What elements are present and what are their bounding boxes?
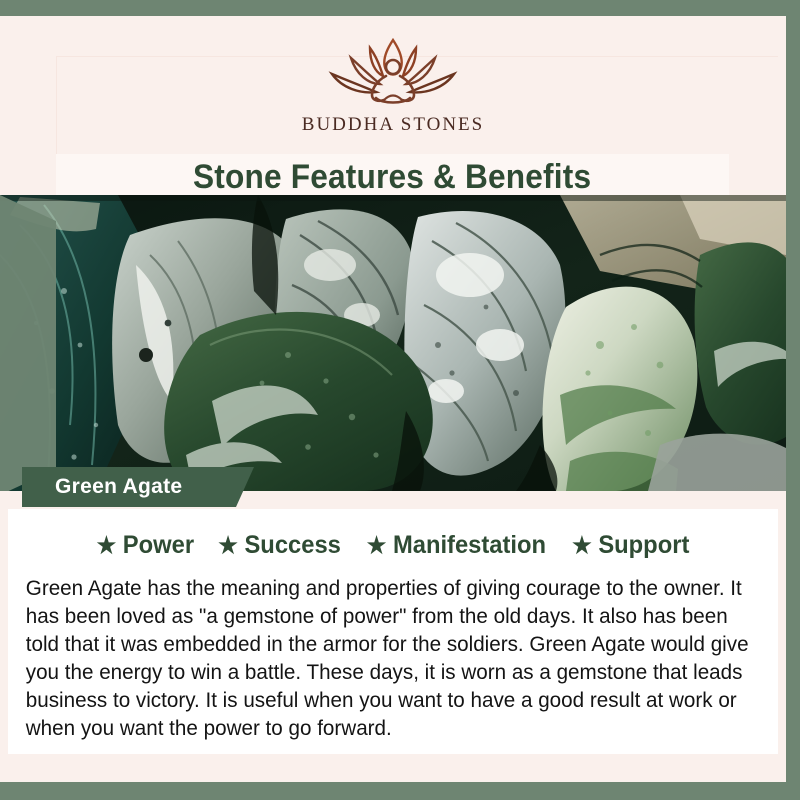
star-icon: ★ (366, 534, 386, 557)
content-panel: ★ Power ★ Success ★ Manifestation ★ Supp… (8, 509, 778, 754)
bottom-decorative-band (0, 782, 800, 800)
feature-label: Manifestation (393, 531, 546, 560)
title-strip: Stone Features & Benefits (56, 154, 729, 200)
feature-label: Support (598, 531, 689, 560)
outer-frame: BUDDHA STONES Stone Features & Benefits (0, 0, 800, 800)
features-list: ★ Power ★ Success ★ Manifestation ★ Supp… (20, 531, 766, 560)
feature-label: Success (244, 531, 340, 560)
stone-name: Green Agate (55, 475, 182, 499)
star-icon: ★ (97, 534, 117, 557)
stone-name-banner: Green Agate (22, 467, 254, 507)
photo-left-notch (0, 195, 56, 495)
feature-item-support: ★ Support (572, 531, 689, 560)
feature-item-power: ★ Power (97, 531, 195, 560)
star-icon: ★ (218, 534, 238, 557)
brand-name: BUDDHA STONES (302, 114, 484, 136)
card-header: BUDDHA STONES Stone Features & Benefits (0, 16, 786, 195)
page-title: Stone Features & Benefits (193, 158, 591, 197)
info-card: BUDDHA STONES Stone Features & Benefits (0, 16, 786, 782)
stone-photo (0, 195, 786, 491)
top-decorative-band (0, 0, 800, 16)
brand-logo: BUDDHA STONES (0, 32, 786, 136)
bottom-cream-strip (0, 754, 786, 782)
feature-label: Power (123, 531, 194, 560)
stone-description: Green Agate has the meaning and properti… (20, 574, 765, 742)
feature-item-success: ★ Success (218, 531, 341, 560)
feature-item-manifestation: ★ Manifestation (366, 531, 545, 560)
lotus-meditation-icon (318, 32, 468, 112)
stone-photo-illustration (0, 195, 786, 491)
star-icon: ★ (572, 534, 592, 557)
